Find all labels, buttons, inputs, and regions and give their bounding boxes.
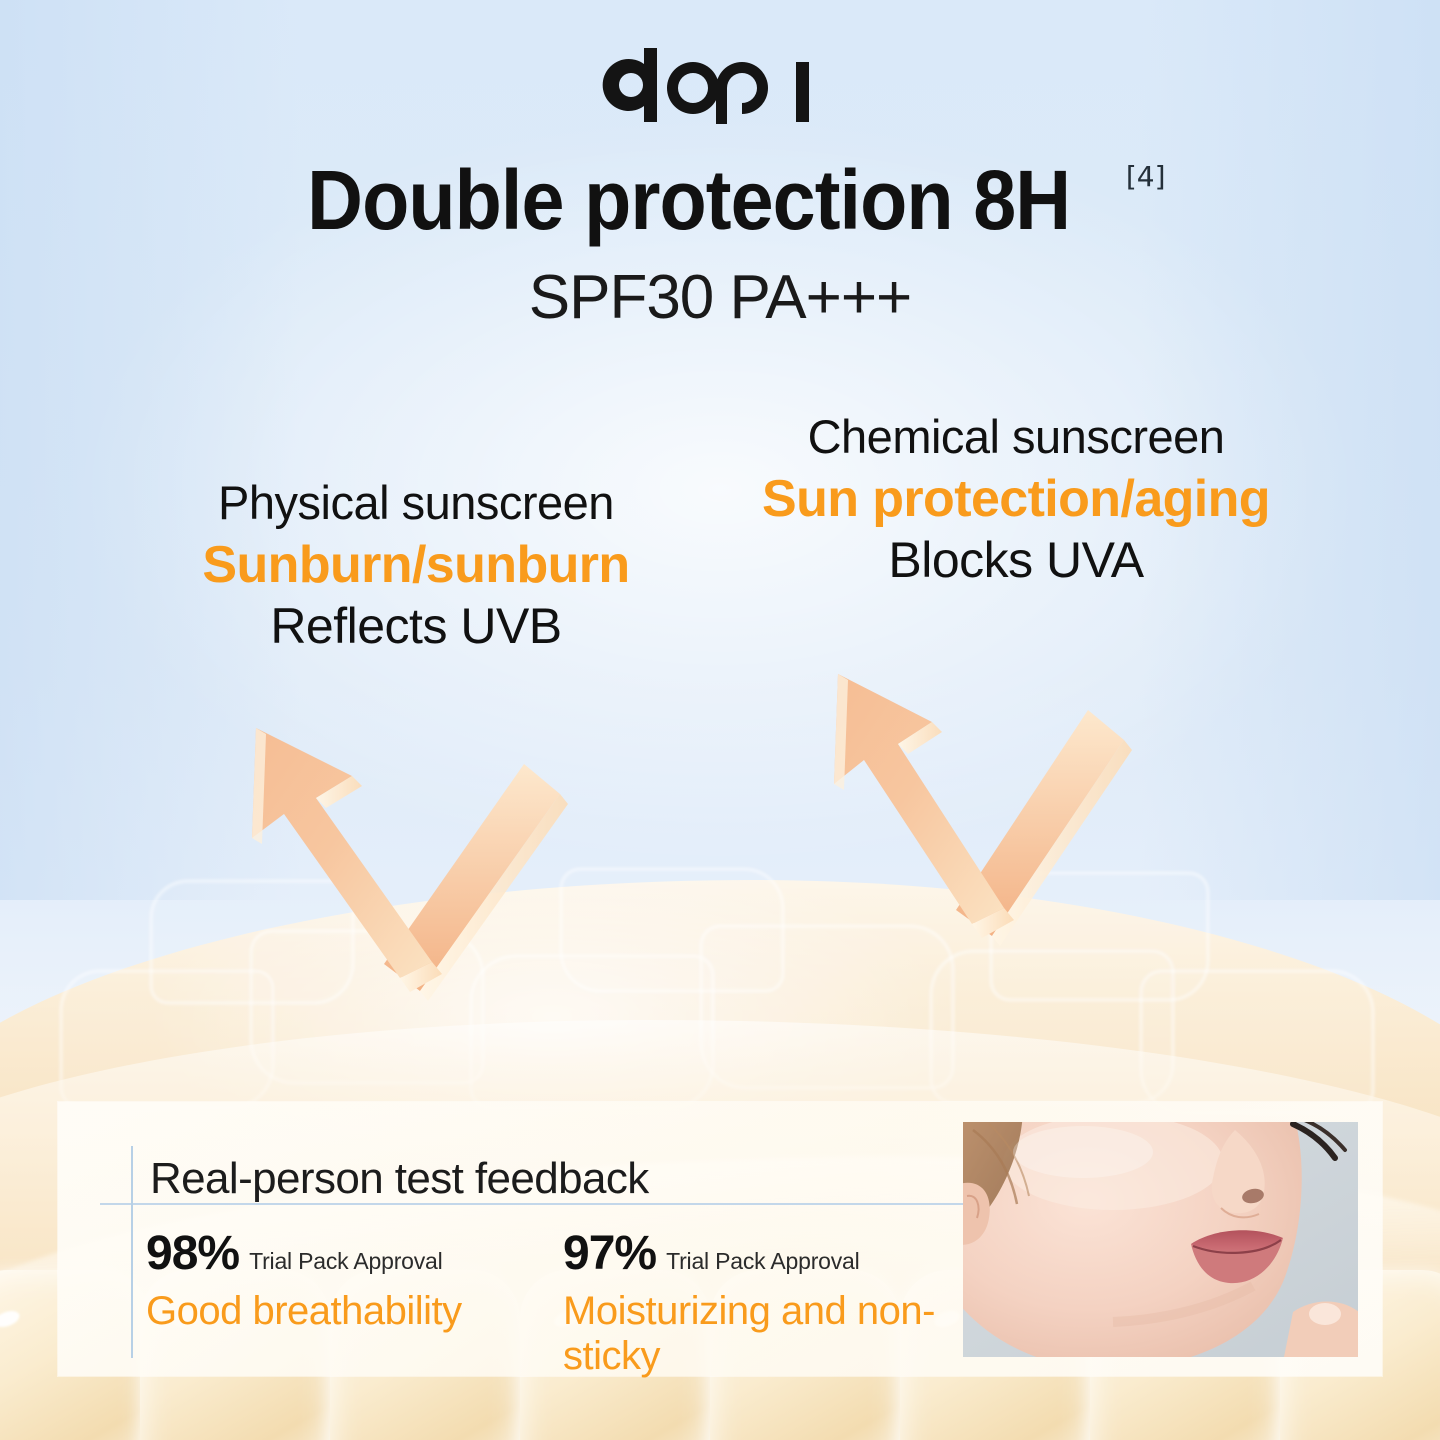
bounce-arrow-icon: [224, 686, 574, 1026]
claim-title: Physical sunscreen: [146, 478, 686, 529]
stat-description: Good breathability: [146, 1289, 576, 1334]
model-face-photo: [963, 1122, 1358, 1357]
skin-cell: [560, 868, 784, 992]
bounce-arrow-icon: [812, 636, 1132, 966]
card-divider-vertical: [131, 1146, 133, 1358]
claim-detail: Blocks UVA: [706, 533, 1326, 587]
poster-canvas: Double protection 8H[4] SPF30 PA+++ Phys…: [0, 0, 1440, 1440]
claim-highlight: Sun protection/aging: [706, 471, 1326, 527]
claim-highlight: Sunburn/sunburn: [146, 537, 686, 593]
stat-top-row: 97%Trial Pack Approval: [563, 1226, 953, 1281]
stat-description: Moisturizing and non-sticky: [563, 1289, 953, 1379]
footnote-marker: [4]: [1126, 160, 1166, 193]
stat-block: 98%Trial Pack Approval Good breathabilit…: [146, 1226, 576, 1334]
stat-percent: 98%: [146, 1227, 239, 1280]
headline-row: Double protection 8H[4]: [0, 152, 1440, 249]
subtitle: SPF30 PA+++: [0, 262, 1440, 333]
claim-title: Chemical sunscreen: [706, 412, 1326, 463]
page-title: Double protection 8H: [308, 152, 1071, 249]
dopi-logo-icon: [600, 46, 840, 124]
stat-percent: 97%: [563, 1227, 656, 1280]
brand-logo: [0, 46, 1440, 136]
portrait-illustration: [963, 1122, 1358, 1357]
stat-label: Trial Pack Approval: [666, 1248, 860, 1274]
stat-label: Trial Pack Approval: [249, 1248, 443, 1274]
claim-block-chemical: Chemical sunscreen Sun protection/aging …: [706, 412, 1326, 587]
claim-detail: Reflects UVB: [146, 599, 686, 653]
card-title: Real-person test feedback: [150, 1154, 649, 1204]
stat-block: 97%Trial Pack Approval Moisturizing and …: [563, 1226, 953, 1379]
claim-block-physical: Physical sunscreen Sunburn/sunburn Refle…: [146, 478, 686, 653]
stat-top-row: 98%Trial Pack Approval: [146, 1226, 576, 1281]
